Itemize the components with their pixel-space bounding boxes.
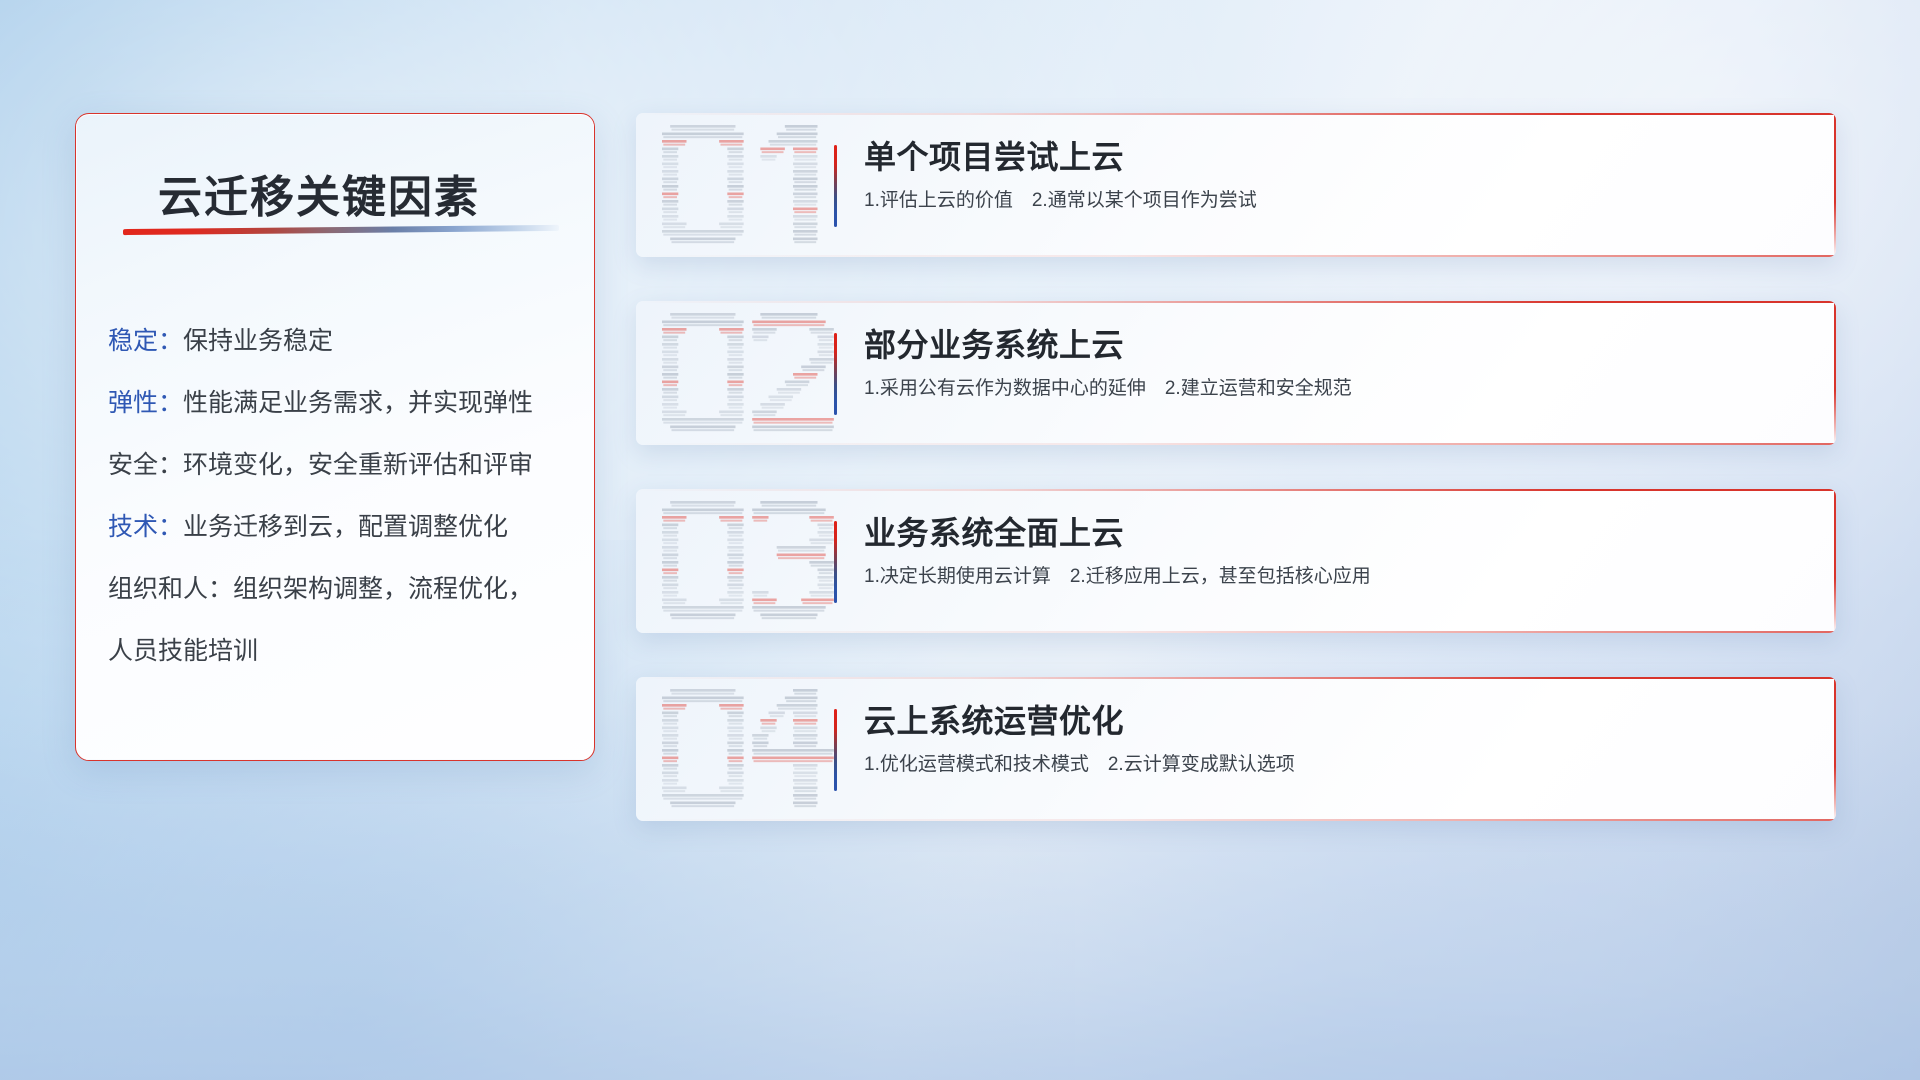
title-underline-accent xyxy=(123,225,559,235)
page-title: 云迁移关键因素 xyxy=(158,161,480,225)
card-divider-bar xyxy=(834,521,837,603)
stage-card-03[interactable]: 业务系统全面上云 1.决定长期使用云计算 2.迁移应用上云，甚至包括核心应用 xyxy=(636,489,1836,633)
stage-number-04 xyxy=(662,689,862,809)
list-item-2: 弹性：性能满足业务需求，并实现弹性 xyxy=(108,372,576,434)
list-item-key: 技术： xyxy=(108,513,183,541)
card-description: 1.优化运营模式和技术模式 2.云计算变成默认选项 xyxy=(864,751,1812,779)
card-title: 部分业务系统上云 xyxy=(864,323,1812,367)
stage-card-04[interactable]: 云上系统运营优化 1.优化运营模式和技术模式 2.云计算变成默认选项 xyxy=(636,677,1836,821)
key-factors-panel: 云迁移关键因素 稳定：保持业务稳定 弹性：性能满足业务需求，并实现弹性 安全：环… xyxy=(75,113,595,761)
card-body: 业务系统全面上云 1.决定长期使用云计算 2.迁移应用上云，甚至包括核心应用 xyxy=(864,511,1812,591)
list-item-key: 组织和人： xyxy=(108,575,233,603)
card-description: 1.采用公有云作为数据中心的延伸 2.建立运营和安全规范 xyxy=(864,375,1812,403)
key-factors-list: 稳定：保持业务稳定 弹性：性能满足业务需求，并实现弹性 安全：环境变化，安全重新… xyxy=(108,310,576,682)
card-title: 单个项目尝试上云 xyxy=(864,135,1812,179)
list-item-text: 组织架构调整，流程优化， xyxy=(233,575,533,603)
stage-number-01 xyxy=(662,125,862,245)
list-item-6: 人员技能培训 xyxy=(108,620,576,682)
card-divider-bar xyxy=(834,709,837,791)
migration-stage-cards: 单个项目尝试上云 1.评估上云的价值 2.通常以某个项目作为尝试 部分业务系统上… xyxy=(636,113,1836,865)
list-item-3: 安全：环境变化，安全重新评估和评审 xyxy=(108,434,576,496)
list-item-5: 组织和人：组织架构调整，流程优化， xyxy=(108,558,576,620)
list-item-key: 弹性： xyxy=(108,389,183,417)
card-body: 单个项目尝试上云 1.评估上云的价值 2.通常以某个项目作为尝试 xyxy=(864,135,1812,215)
stage-card-02[interactable]: 部分业务系统上云 1.采用公有云作为数据中心的延伸 2.建立运营和安全规范 xyxy=(636,301,1836,445)
stage-number-02 xyxy=(662,313,862,433)
card-divider-bar xyxy=(834,145,837,227)
list-item-key: 安全： xyxy=(108,451,183,479)
card-title: 云上系统运营优化 xyxy=(864,699,1812,743)
list-item-text: 业务迁移到云，配置调整优化 xyxy=(183,513,508,541)
card-divider-bar xyxy=(834,333,837,415)
list-item-text: 保持业务稳定 xyxy=(183,327,333,355)
list-item-1: 稳定：保持业务稳定 xyxy=(108,310,576,372)
card-description: 1.决定长期使用云计算 2.迁移应用上云，甚至包括核心应用 xyxy=(864,563,1812,591)
list-item-text: 人员技能培训 xyxy=(108,637,258,665)
card-title: 业务系统全面上云 xyxy=(864,511,1812,555)
stage-card-01[interactable]: 单个项目尝试上云 1.评估上云的价值 2.通常以某个项目作为尝试 xyxy=(636,113,1836,257)
stage-number-03 xyxy=(662,501,862,621)
card-body: 部分业务系统上云 1.采用公有云作为数据中心的延伸 2.建立运营和安全规范 xyxy=(864,323,1812,403)
list-item-text: 性能满足业务需求，并实现弹性 xyxy=(183,389,533,417)
card-description: 1.评估上云的价值 2.通常以某个项目作为尝试 xyxy=(864,187,1812,215)
card-body: 云上系统运营优化 1.优化运营模式和技术模式 2.云计算变成默认选项 xyxy=(864,699,1812,779)
list-item-text: 环境变化，安全重新评估和评审 xyxy=(183,451,533,479)
list-item-4: 技术：业务迁移到云，配置调整优化 xyxy=(108,496,576,558)
list-item-key: 稳定： xyxy=(108,327,183,355)
